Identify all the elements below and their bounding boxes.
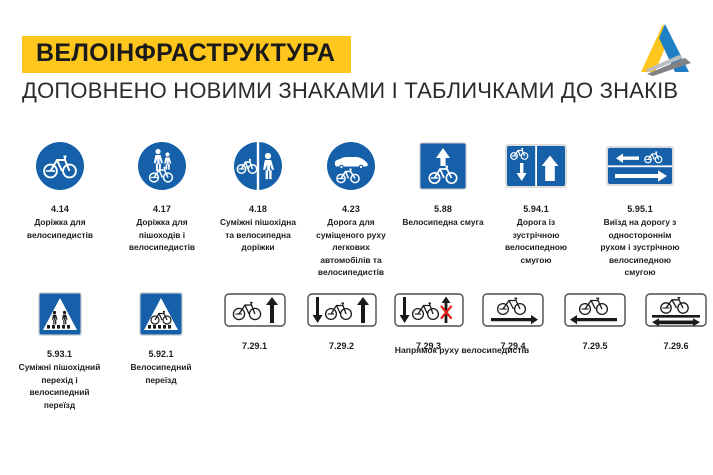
signs-row-1: 4.14 Доріжка для велосипедистів [8, 138, 708, 279]
sign-description: Дорога із зустрічною велосипедною смугою [493, 216, 579, 266]
sign-code: 5.93.1 [47, 349, 72, 359]
plate-bicycle-up-arrow-icon [224, 288, 286, 332]
sign-description: Доріжка для велосипедистів [17, 216, 103, 241]
plate-card-7-29-1: 7.29.1 [211, 288, 298, 351]
sign-card-5-88: 5.88 Велосипедна смуга [398, 138, 488, 229]
sign-description: Виїзд на дорогу з одностороннім рухом і … [597, 216, 683, 279]
page-subtitle: ДОПОВНЕНО НОВИМИ ЗНАКАМИ І ТАБЛИЧКАМИ ДО… [22, 78, 678, 104]
sign-code: 4.23 [342, 204, 360, 214]
plate-bicycle-left-arrow-icon [564, 288, 626, 332]
sign-card-5-95-1: 5.95.1 Виїзд на дорогу з одностороннім р… [584, 138, 696, 279]
sign-card-5-92-1: 5.92.1 Велосипедний переїзд [111, 288, 211, 386]
sign-description: Дорога для суміщеного руху легкових авто… [308, 216, 394, 279]
sign-card-4-23: 4.23 Дорога для суміщеного руху легкових… [304, 138, 398, 279]
one-way-road-with-contraflow-bicycle-lane-icon [605, 138, 675, 194]
sign-code: 5.95.1 [627, 204, 653, 214]
plate-down-arrow-bicycle-crossed-up-arrow-icon [394, 288, 464, 332]
bicycle-lane-arrow-blue-square-icon [419, 138, 467, 194]
contraflow-bicycle-lane-icon [504, 138, 568, 194]
sign-card-5-93-1: 5.93.1 Суміжні пішохідний перехід і вело… [8, 288, 111, 411]
plate-bicycle-double-arrow-icon [645, 288, 707, 332]
plate-card-7-29-2: 7.29.2 [298, 288, 385, 351]
sign-code: 4.17 [153, 204, 171, 214]
plate-card-7-29-6: 7.29.6 [636, 288, 713, 351]
bicycle-in-blue-circle-icon [35, 138, 85, 194]
plate-bicycle-right-arrow-icon [482, 288, 544, 332]
plates-group-caption: Напрямок руху велосипедистів [216, 345, 708, 355]
car-and-bicycle-blue-circle-icon [326, 138, 376, 194]
sign-card-4-18: 4.18 Суміжні пішохідна та велосипедна до… [212, 138, 304, 254]
plate-down-arrow-bicycle-up-arrow-icon [307, 288, 377, 332]
sign-code: 5.94.1 [523, 204, 549, 214]
sign-code: 4.18 [249, 204, 267, 214]
pedestrian-and-bicycle-crossing-icon [37, 288, 83, 340]
plate-card-7-29-3: 7.29.3 [385, 288, 472, 351]
sign-card-5-94-1: 5.94.1 Дорога із зустрічною велосипедною… [488, 138, 584, 266]
split-bicycle-pedestrian-blue-circle-icon [233, 138, 283, 194]
sign-code: 4.14 [51, 204, 69, 214]
plate-card-7-29-5: 7.29.5 [554, 288, 636, 351]
plate-card-7-29-4: 7.29.4 [472, 288, 554, 351]
header: ВЕЛОІНФРАСТРУКТУРА ДОПОВНЕНО НОВИМИ ЗНАК… [0, 0, 713, 120]
sign-card-4-17: 4.17 Доріжка для пішоходів і велосипедис… [112, 138, 212, 254]
bicycle-crossing-icon [138, 288, 184, 340]
sign-description: Велосипедний переїзд [118, 361, 204, 386]
page-title-band: ВЕЛОІНФРАСТРУКТУРА [22, 36, 351, 73]
sign-description: Суміжні пішохідна та велосипедна доріжки [215, 216, 301, 254]
page-title: ВЕЛОІНФРАСТРУКТУРА [36, 39, 335, 67]
sign-code: 5.88 [434, 204, 452, 214]
sign-description: Суміжні пішохідний перехід і велосипедни… [17, 361, 103, 411]
pedestrian-and-bicycle-blue-circle-icon [137, 138, 187, 194]
sign-card-4-14: 4.14 Доріжка для велосипедистів [8, 138, 112, 241]
sign-description: Доріжка для пішоходів і велосипедистів [119, 216, 205, 254]
ukravtodor-logo [629, 22, 699, 76]
sign-description: Велосипедна смуга [402, 216, 483, 229]
sign-code: 5.92.1 [148, 349, 173, 359]
